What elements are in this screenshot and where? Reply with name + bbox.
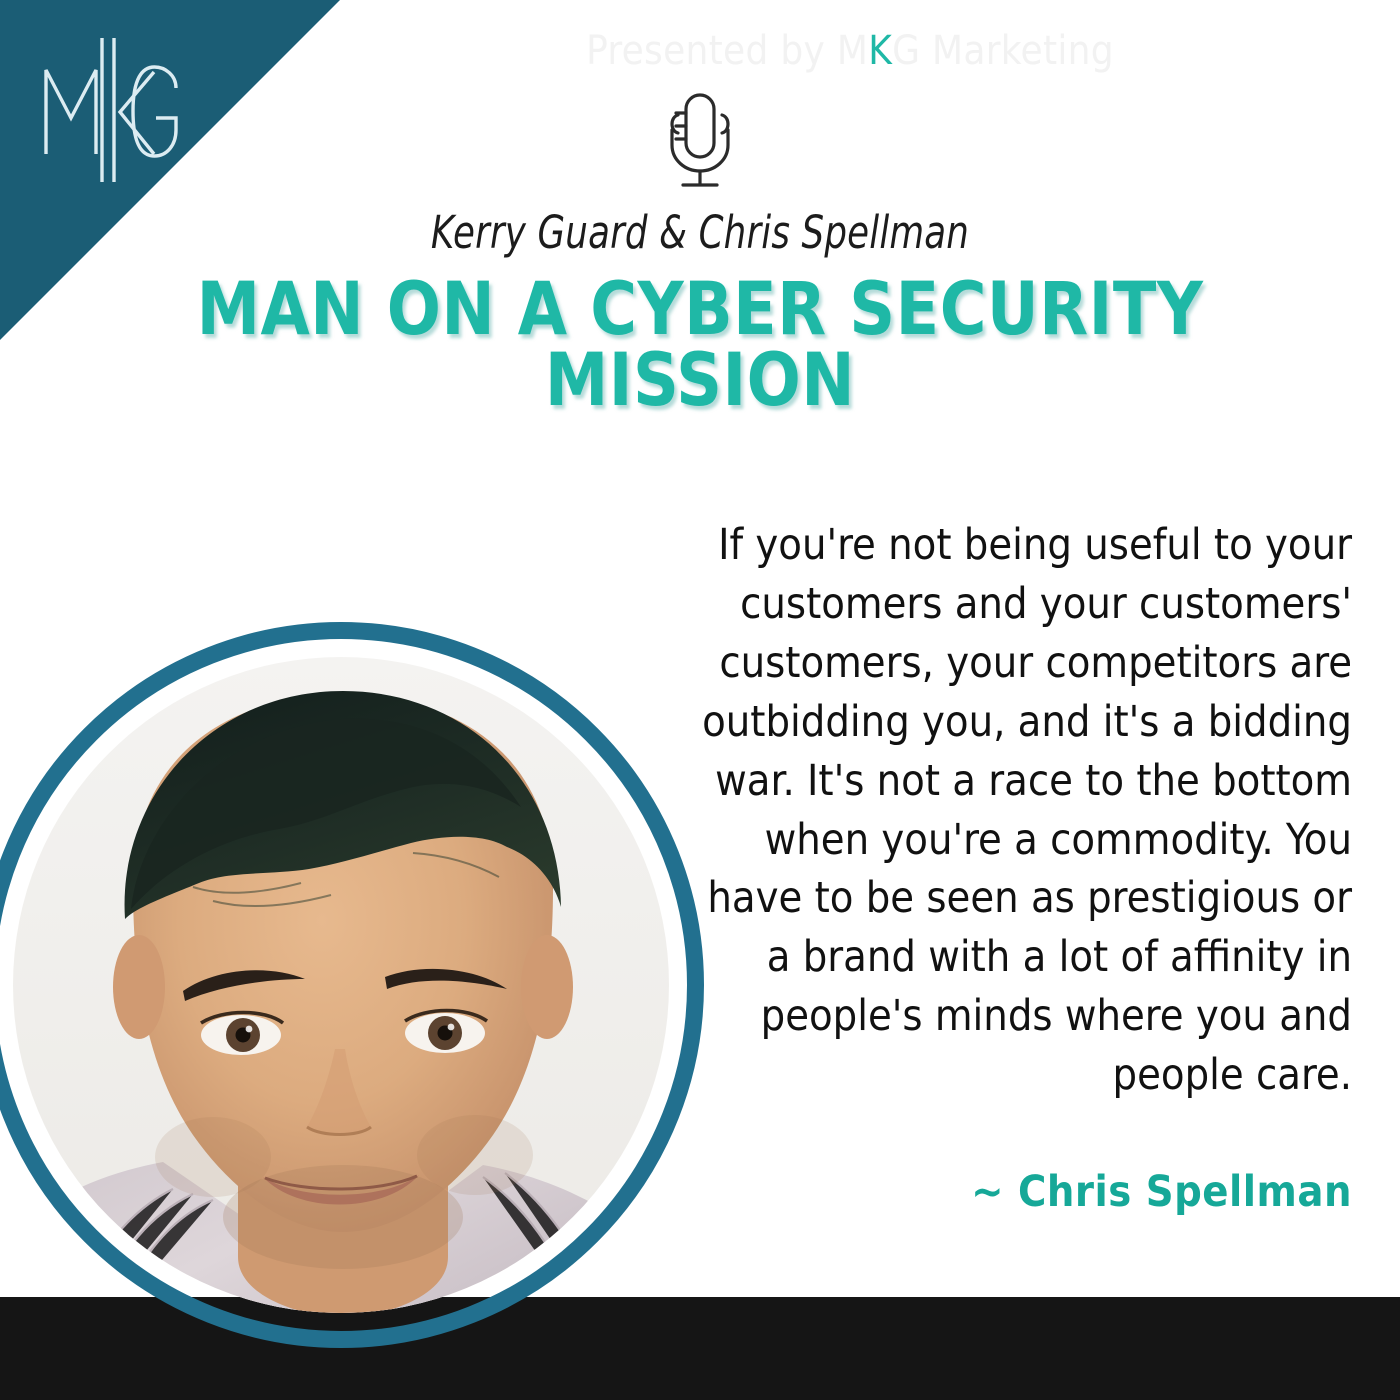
- guest-portrait: [0, 622, 704, 1348]
- footer-credit-prefix: Presented by M: [586, 28, 868, 74]
- podcast-episode-card: Kerry Guard & Chris Spellman MAN ON A CY…: [0, 0, 1400, 1400]
- quote-attribution: ~ Chris Spellman: [692, 1167, 1352, 1217]
- quote-text: If you're not being useful to your custo…: [692, 516, 1352, 1105]
- microphone-icon: [650, 88, 750, 193]
- footer-credit-accent: K: [868, 28, 892, 74]
- guest-portrait-photo: [13, 657, 669, 1313]
- episode-title-line-2: MISSION: [176, 346, 1224, 417]
- footer-credit: Presented by MKG Marketing: [0, 28, 1400, 74]
- episode-title-line-1: MAN ON A CYBER SECURITY: [176, 275, 1224, 346]
- footer-credit-suffix: G Marketing: [892, 28, 1114, 74]
- episode-title: MAN ON A CYBER SECURITY MISSION: [176, 275, 1224, 417]
- speakers-line: Kerry Guard & Chris Spellman: [225, 206, 1175, 259]
- headline-block: Kerry Guard & Chris Spellman MAN ON A CY…: [160, 206, 1240, 417]
- quote-block: If you're not being useful to your custo…: [692, 516, 1352, 1217]
